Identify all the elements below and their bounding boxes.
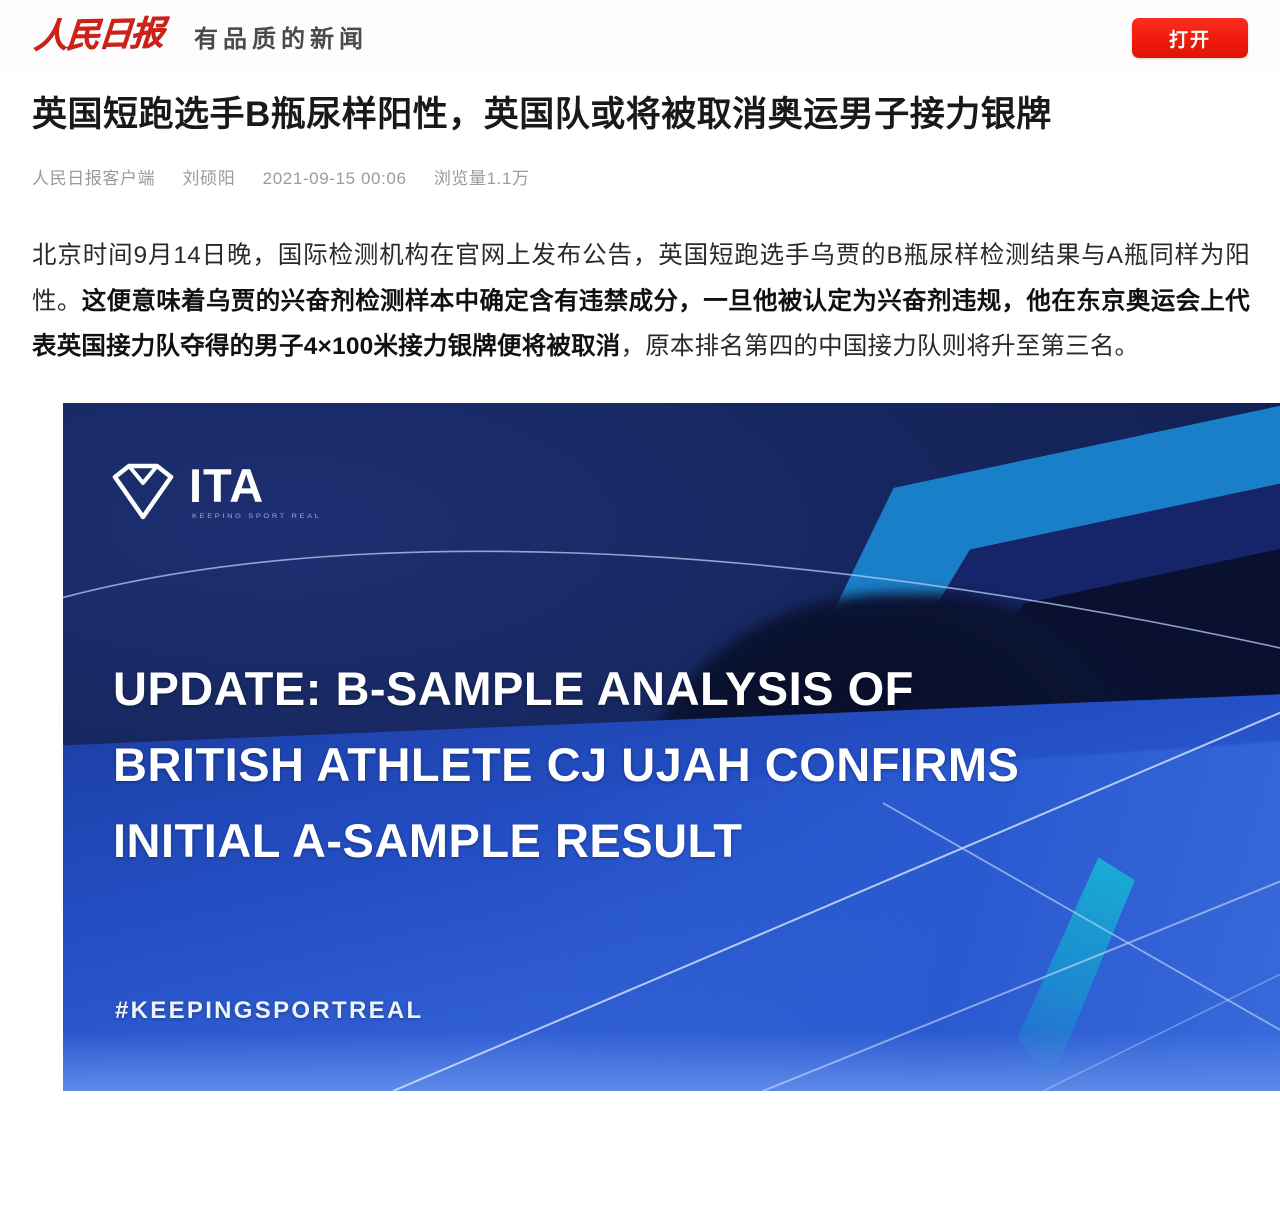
banner-headline-line-2: BRITISH ATHLETE CJ UJAH CONFIRMS [113, 727, 1093, 803]
people-daily-calligraphy-logo[interactable]: 人民日报 [33, 17, 164, 54]
paragraph-tail: ，原本排名第四的中国接力队则将升至第三名。 [621, 333, 1140, 360]
banner-headline-line-1: UPDATE: B-SAMPLE ANALYSIS OF [113, 651, 1093, 727]
site-tagline: 有品质的新闻 [194, 19, 368, 54]
meta-timestamp: 2021-09-15 00:06 [263, 169, 407, 188]
article-image-wrapper: ITA KEEPING SPORT REAL UPDATE: B-SAMPLE … [32, 403, 1250, 1091]
ita-announcement-banner: ITA KEEPING SPORT REAL UPDATE: B-SAMPLE … [63, 403, 1280, 1091]
meta-source: 人民日报客户端 [32, 169, 155, 188]
meta-author: 刘硕阳 [183, 169, 236, 188]
article-headline: 英国短跑选手B瓶尿样阳性，英国队或将被取消奥运男子接力银牌 [32, 92, 1250, 138]
ita-logo: ITA KEEPING SPORT REAL [111, 463, 321, 521]
banner-hashtag: #KEEPINGSPORTREAL [115, 997, 423, 1025]
article-container: 英国短跑选手B瓶尿样阳性，英国队或将被取消奥运男子接力银牌 人民日报客户端 刘硕… [0, 72, 1280, 1091]
ita-logo-text-group: ITA KEEPING SPORT REAL [189, 464, 321, 521]
site-header: 人民日报 有品质的新闻 打开 [0, 0, 1280, 72]
article-meta: 人民日报客户端 刘硕阳 2021-09-15 00:06 浏览量1.1万 [32, 164, 1250, 189]
ita-diamond-icon [111, 463, 175, 521]
ita-logo-subtitle: KEEPING SPORT REAL [192, 512, 321, 520]
banner-headline: UPDATE: B-SAMPLE ANALYSIS OF BRITISH ATH… [113, 651, 1093, 879]
article-paragraph: 北京时间9月14日晚，国际检测机构在官网上发布公告，英国短跑选手乌贾的B瓶尿样检… [32, 233, 1250, 369]
ita-logo-wordmark: ITA [189, 464, 321, 509]
meta-views: 浏览量1.1万 [434, 169, 530, 188]
banner-headline-line-3: INITIAL A-SAMPLE RESULT [113, 803, 1093, 879]
open-app-button[interactable]: 打开 [1132, 18, 1248, 58]
